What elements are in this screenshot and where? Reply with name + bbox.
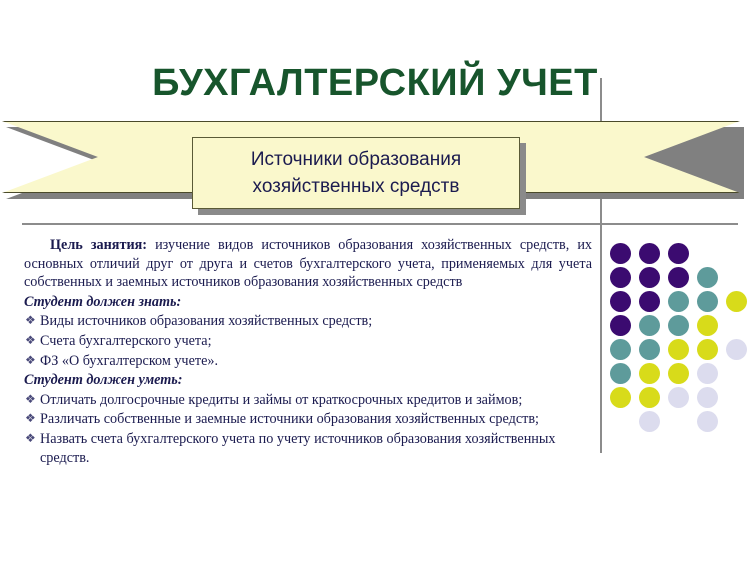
decorative-dot <box>668 243 689 264</box>
decorative-dot <box>726 291 747 312</box>
decorative-dot <box>639 387 660 408</box>
decorative-dot <box>639 291 660 312</box>
decorative-dot <box>610 315 631 336</box>
decorative-dot <box>697 315 718 336</box>
decorative-dot <box>610 363 631 384</box>
goal-label: Цель занятия: <box>50 237 147 253</box>
diamond-bullet-icon: ❖ <box>25 390 36 409</box>
decorative-dot <box>697 267 718 288</box>
ribbon-plaque-line-1: Источники образования <box>251 146 461 173</box>
diamond-bullet-icon: ❖ <box>25 409 36 428</box>
decorative-dot <box>697 387 718 408</box>
decorative-dot <box>639 363 660 384</box>
horizontal-divider <box>22 223 738 225</box>
able-item-text: Отличать долгосрочные кредиты и займы от… <box>40 392 522 408</box>
able-item-text: Различать собственные и заемные источник… <box>40 411 539 427</box>
list-item: ❖Назвать счета бухгалтерского учета по у… <box>24 430 592 467</box>
decorative-dot <box>610 267 631 288</box>
decorative-dot <box>697 339 718 360</box>
decorative-dot <box>639 267 660 288</box>
decorative-dot <box>610 339 631 360</box>
diamond-bullet-icon: ❖ <box>25 429 36 448</box>
decorative-dot <box>610 243 631 264</box>
dot-grid-decoration <box>610 243 740 438</box>
decorative-dot <box>639 315 660 336</box>
decorative-dot <box>639 243 660 264</box>
decorative-dot <box>668 339 689 360</box>
know-item-text: Виды источников образования хозяйственны… <box>40 313 372 329</box>
goal-paragraph: Цель занятия: изучение видов источников … <box>24 236 592 292</box>
decorative-dot <box>668 315 689 336</box>
decorative-dot <box>668 267 689 288</box>
list-item: ❖Виды источников образования хозяйственн… <box>24 312 592 331</box>
ribbon-plaque: Источники образования хозяйственных сред… <box>192 137 520 209</box>
ribbon-plaque-line-2: хозяйственных средств <box>253 173 460 200</box>
subheading-able: Студент должен уметь: <box>24 371 592 390</box>
decorative-dot <box>639 339 660 360</box>
decorative-dot <box>668 387 689 408</box>
decorative-dot <box>610 387 631 408</box>
decorative-dot <box>726 339 747 360</box>
list-item: ❖Счета бухгалтерского учета; <box>24 332 592 351</box>
decorative-dot <box>668 291 689 312</box>
able-list: ❖Отличать долгосрочные кредиты и займы о… <box>24 391 592 467</box>
list-item: ❖Различать собственные и заемные источни… <box>24 410 592 429</box>
decorative-dot <box>697 291 718 312</box>
know-item-text: Счета бухгалтерского учета; <box>40 333 212 349</box>
page-title: БУХГАЛТЕРСКИЙ УЧЕТ <box>0 62 750 105</box>
decorative-dot <box>697 411 718 432</box>
able-item-text: Назвать счета бухгалтерского учета по уч… <box>40 431 556 466</box>
list-item: ❖Отличать долгосрочные кредиты и займы о… <box>24 391 592 410</box>
decorative-dot <box>668 363 689 384</box>
decorative-dot <box>697 363 718 384</box>
know-list: ❖Виды источников образования хозяйственн… <box>24 312 592 370</box>
subheading-know: Студент должен знать: <box>24 293 592 312</box>
diamond-bullet-icon: ❖ <box>25 331 36 350</box>
know-item-text: ФЗ «О бухгалтерском учете». <box>40 353 218 369</box>
diamond-bullet-icon: ❖ <box>25 351 36 370</box>
decorative-dot <box>610 291 631 312</box>
diamond-bullet-icon: ❖ <box>25 311 36 330</box>
decorative-dot <box>639 411 660 432</box>
content-body: Цель занятия: изучение видов источников … <box>24 236 592 468</box>
list-item: ❖ФЗ «О бухгалтерском учете». <box>24 352 592 371</box>
slide-canvas: БУХГАЛТЕРСКИЙ УЧЕТ Источники образования… <box>0 0 750 561</box>
